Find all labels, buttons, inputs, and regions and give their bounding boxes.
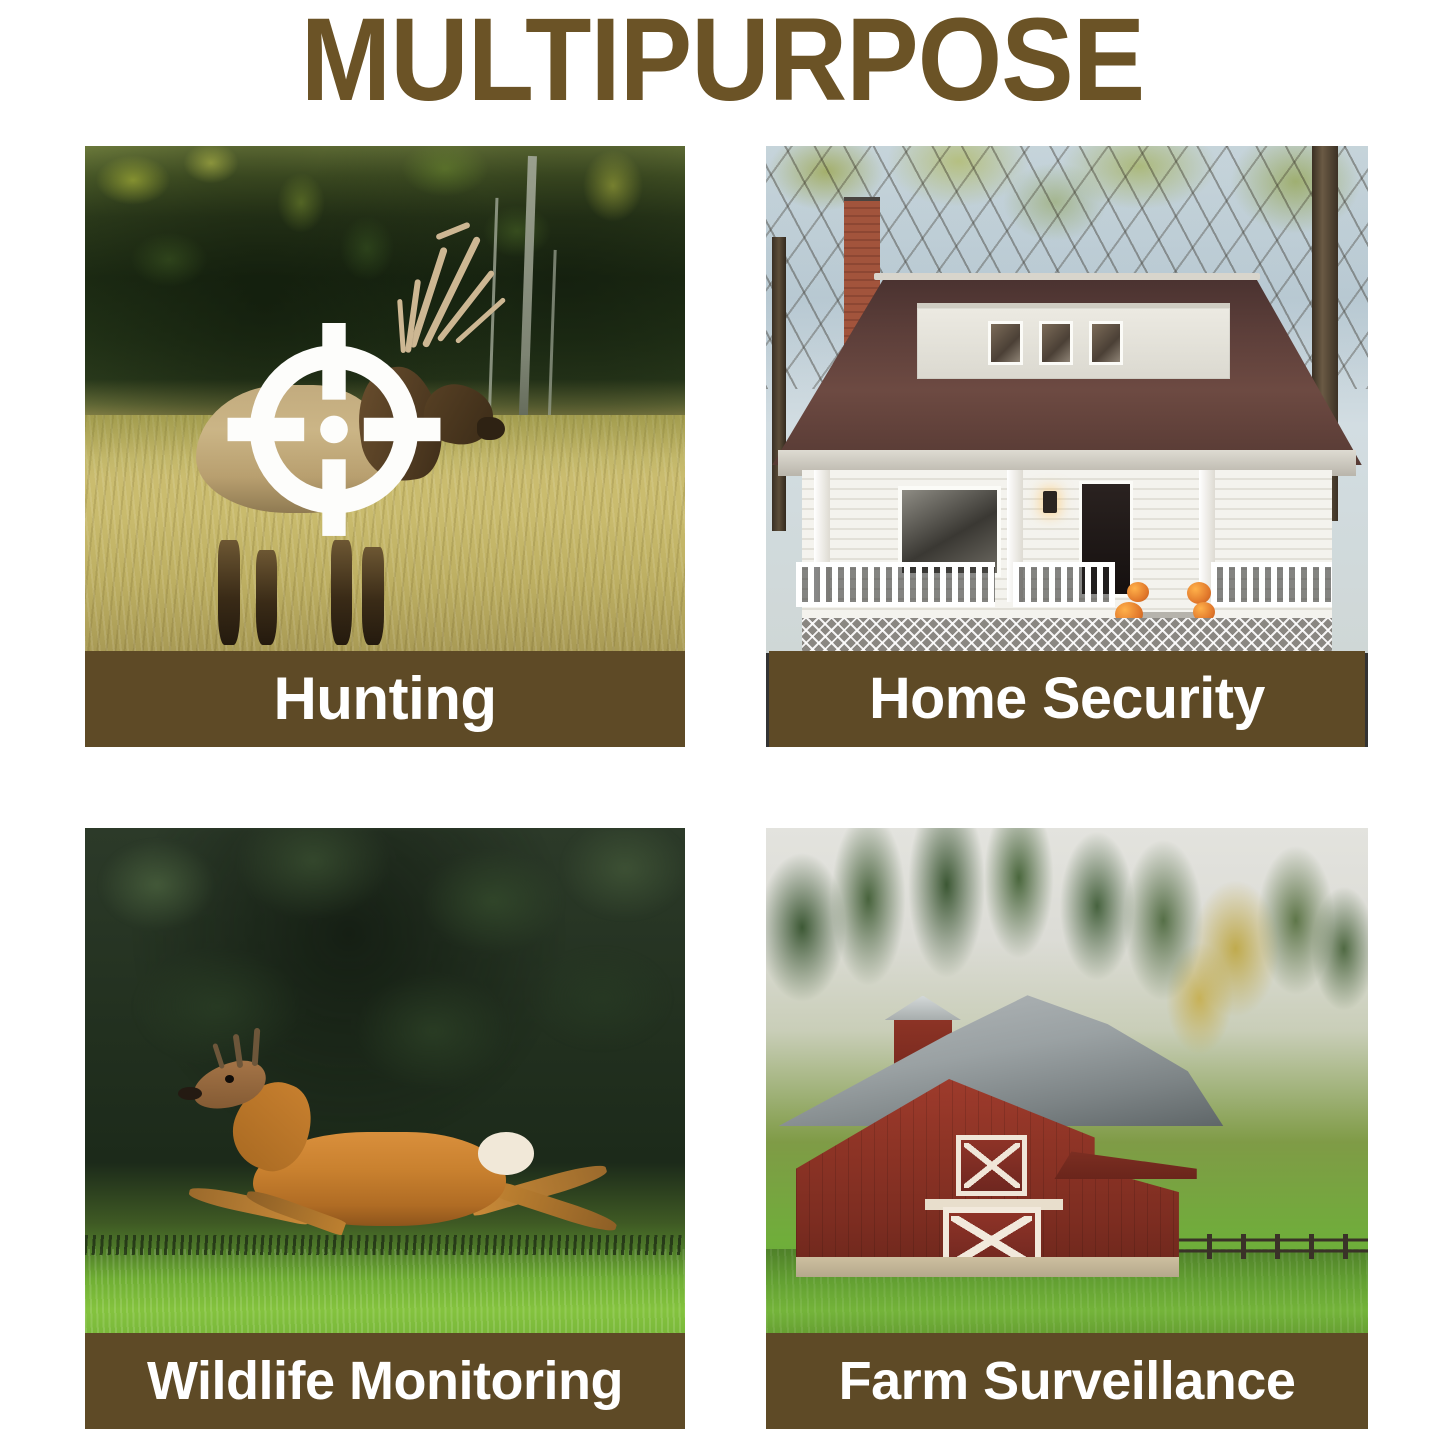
porch-lamp-icon	[1043, 491, 1057, 513]
deer-eye	[225, 1075, 234, 1083]
deer-nose	[178, 1087, 201, 1100]
caption-farm-surveillance: Farm Surveillance	[766, 1333, 1368, 1429]
farm-photo	[766, 828, 1368, 1335]
multipurpose-infographic: MULTIPURPOSE	[0, 0, 1445, 1445]
tree-trunk-left	[772, 237, 786, 531]
barn-lean-to	[1054, 1151, 1197, 1179]
barn-hay-door	[956, 1135, 1027, 1196]
crosshair-target-icon	[214, 323, 454, 536]
tile-hunting[interactable]: Hunting	[85, 146, 685, 747]
wildlife-photo	[85, 828, 685, 1335]
caption-home-security: Home Security	[769, 651, 1365, 747]
tile-farm-surveillance[interactable]: Farm Surveillance	[766, 828, 1368, 1429]
red-barn	[778, 995, 1223, 1274]
porch-lattice	[802, 618, 1332, 653]
elk-muzzle	[477, 417, 505, 440]
roof-ridge	[874, 273, 1259, 280]
caption-hunting: Hunting	[85, 651, 685, 747]
porch-railing	[796, 562, 995, 608]
page-title: MULTIPURPOSE	[58, 0, 1387, 124]
deer-figure	[169, 1051, 637, 1264]
deer-rump	[478, 1132, 534, 1175]
porch-railing	[1013, 562, 1115, 608]
dormer-windows	[917, 303, 1230, 379]
tile-wildlife-monitoring[interactable]: Wildlife Monitoring	[85, 828, 685, 1429]
caption-wildlife-monitoring: Wildlife Monitoring	[85, 1333, 685, 1429]
hunting-photo	[85, 146, 685, 653]
use-case-grid: Hunting	[85, 146, 1366, 1429]
porch-railing	[1211, 562, 1331, 608]
barn-foundation	[796, 1257, 1179, 1277]
tile-home-security[interactable]: Home Security	[766, 146, 1368, 747]
home-security-photo	[766, 146, 1368, 653]
